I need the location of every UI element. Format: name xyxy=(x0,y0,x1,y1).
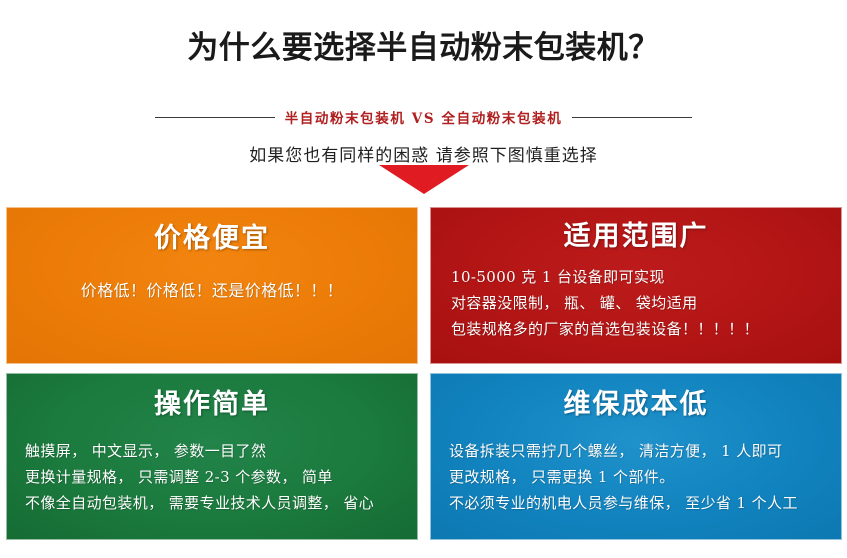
card-heading: 适用范围广 xyxy=(445,220,827,254)
card-line: 更改规格， 只需更换 1 个部件。 xyxy=(449,464,827,490)
rule-left xyxy=(155,117,275,118)
card-line: 触摸屏， 中文显示， 参数一目了然 xyxy=(25,438,403,464)
feature-card-grid: 价格便宜 价格低！价格低！还是价格低！！！ 适用范围广 10-5000 克 1 … xyxy=(6,207,842,547)
header-section: 为什么要选择半自动粉末包装机？ 半自动粉末包装机 VS 全自动粉末包装机 如果您… xyxy=(0,0,847,200)
card-line: 设备拆装只需拧几个螺丝， 清洁方便， 1 人即可 xyxy=(449,438,827,464)
card-line: 不像全自动包装机， 需要专业技术人员调整， 省心 xyxy=(25,490,403,516)
card-body: 触摸屏， 中文显示， 参数一目了然 更换计量规格， 只需调整 2-3 个参数， … xyxy=(21,438,403,516)
card-price-cheap: 价格便宜 价格低！价格低！还是价格低！！！ xyxy=(6,207,418,364)
card-heading: 操作简单 xyxy=(21,388,403,422)
card-easy-operation: 操作简单 触摸屏， 中文显示， 参数一目了然 更换计量规格， 只需调整 2-3 … xyxy=(6,373,418,540)
card-wide-range: 适用范围广 10-5000 克 1 台设备即可实现 对容器没限制， 瓶、 罐、 … xyxy=(430,207,842,364)
card-body: 价格低！价格低！还是价格低！！！ xyxy=(21,278,403,304)
prompt-block: 如果您也有同样的困惑 请参照下图慎重选择 xyxy=(0,143,847,169)
card-line: 更换计量规格， 只需调整 2-3 个参数， 简单 xyxy=(25,464,403,490)
card-line: 包装规格多的厂家的首选包装设备！！！！！ xyxy=(451,316,827,342)
vs-comparison-label: 半自动粉末包装机 VS 全自动粉末包装机 xyxy=(285,107,563,127)
card-body: 10-5000 克 1 台设备即可实现 对容器没限制， 瓶、 罐、 袋均适用 包… xyxy=(445,264,827,342)
page-title: 为什么要选择半自动粉末包装机？ xyxy=(0,28,847,68)
card-body: 设备拆装只需拧几个螺丝， 清洁方便， 1 人即可 更改规格， 只需更换 1 个部… xyxy=(445,438,827,516)
prompt-text: 如果您也有同样的困惑 请参照下图慎重选择 xyxy=(249,143,597,169)
arrow-down-icon xyxy=(379,165,469,194)
infographic-page: 为什么要选择半自动粉末包装机？ 半自动粉末包装机 VS 全自动粉末包装机 如果您… xyxy=(0,0,847,558)
card-line: 对容器没限制， 瓶、 罐、 袋均适用 xyxy=(451,290,827,316)
card-low-maintenance-cost: 维保成本低 设备拆装只需拧几个螺丝， 清洁方便， 1 人即可 更改规格， 只需更… xyxy=(430,373,842,540)
vs-comparison-row: 半自动粉末包装机 VS 全自动粉末包装机 xyxy=(0,107,847,127)
card-heading: 维保成本低 xyxy=(445,388,827,422)
rule-right xyxy=(572,117,692,118)
card-line: 价格低！价格低！还是价格低！！！ xyxy=(21,278,403,304)
card-line: 不必须专业的机电人员参与维保， 至少省 1 个人工 xyxy=(449,490,827,516)
card-heading: 价格便宜 xyxy=(21,222,403,256)
card-line: 10-5000 克 1 台设备即可实现 xyxy=(451,264,827,290)
